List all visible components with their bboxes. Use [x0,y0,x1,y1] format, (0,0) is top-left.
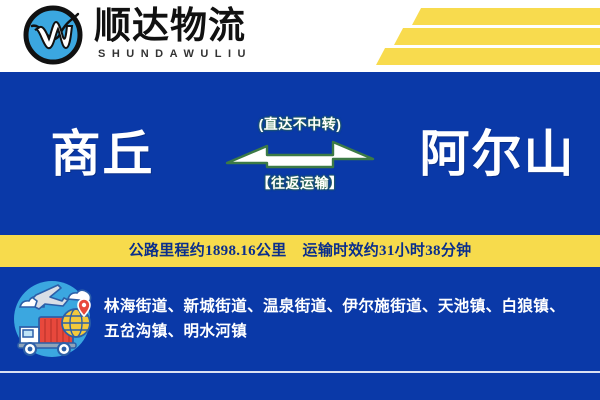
coverage-areas-text: 林海街道、新城街道、温泉街道、伊尔施街道、天池镇、白狼镇、五岔沟镇、明水河镇 [104,298,565,340]
origin-city: 商丘 [0,126,205,182]
coverage-areas: 林海街道、新城街道、温泉街道、伊尔施街道、天池镇、白狼镇、五岔沟镇、明水河镇 [104,294,600,344]
brand-logo: 顺达物流 SHUNDAWULIU [22,4,252,66]
direct-service-note: (直达不中转) [259,116,342,133]
coverage-section: 林海街道、新城街道、温泉街道、伊尔施街道、天池镇、白狼镇、五岔沟镇、明水河镇 [0,267,600,400]
stripe-3 [376,48,600,65]
stripe-1 [412,8,600,25]
brand-name-cn: 顺达物流 [94,8,252,46]
truck-plane-globe-logistics-icon [0,273,104,365]
stripe-2 [394,28,600,45]
brand-text: 顺达物流 SHUNDAWULIU [94,8,252,62]
coverage-row: 林海街道、新城街道、温泉街道、伊尔施街道、天池镇、白狼镇、五岔沟镇、明水河镇 [0,267,600,371]
round-trip-note: 【往返运输】 [257,175,344,192]
distance-label: 公路里程约1898.16公里 [129,243,287,259]
info-band: 公路里程约1898.16公里运输时效约31小时38分钟 [0,235,600,267]
route-row: 商丘 (直达不中转) 【往返运输】 阿尔山 [0,72,600,235]
logistics-route-banner: 顺达物流 SHUNDAWULIU 商丘 (直达不中转) 【往返运输】 阿尔山 公… [0,0,600,400]
info-band-text: 公路里程约1898.16公里运输时效约31小时38分钟 [129,242,472,260]
shunda-circle-w-logo-icon [22,4,84,66]
destination-city: 阿尔山 [395,126,600,182]
route-section: 商丘 (直达不中转) 【往返运输】 阿尔山 [0,72,600,235]
double-headed-arrow-icon [225,136,375,172]
banner-header: 顺达物流 SHUNDAWULIU [0,0,600,72]
decorative-yellow-stripes [330,0,600,72]
duration-label: 运输时效约31小时38分钟 [303,243,472,259]
brand-name-en: SHUNDAWULIU [94,46,252,62]
bottom-divider [0,371,600,373]
route-arrow-group: (直达不中转) 【往返运输】 [205,116,395,192]
